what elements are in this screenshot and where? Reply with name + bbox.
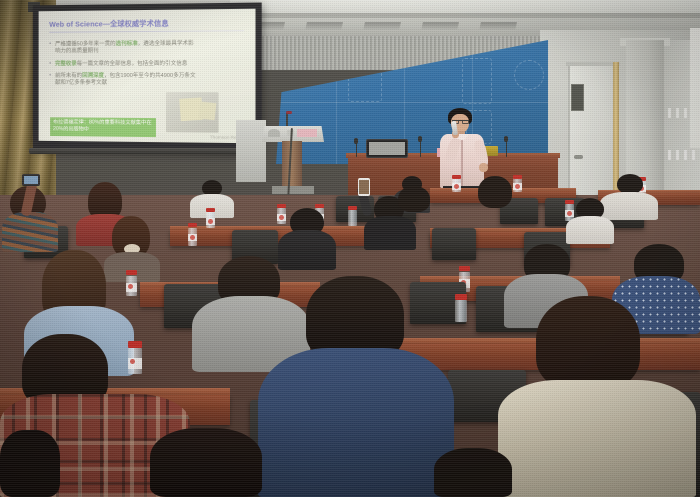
bottle-cap [315,204,324,208]
attendee-torso [364,216,416,250]
slide-highlight-box: 布拉德福定律：80%的重要科技文献集中在20%的出版物中 [50,117,156,137]
bottle-label [126,283,137,292]
table-microphone-head [504,136,508,142]
bullet-highlight: 选刊标准 [116,41,138,47]
glasses-lens-right [462,120,469,124]
ceiling-vent [363,22,401,31]
highlight-box-text: 布拉德福定律：80%的重要科技文献集中在20%的出版物中 [53,119,153,134]
bottle-cap [455,294,467,300]
wall-tile-trim [660,150,700,160]
attendee-head [150,428,262,497]
bottle-cap [452,175,461,179]
podium-microphone-head [286,111,292,114]
bottle-label [128,358,142,369]
bottle-cap [513,175,522,179]
slide-bullet-item: • 完整收录每一篇文章的全部信息，包括全面的引文信息 [49,60,244,68]
water-bottle [348,210,357,226]
bullet-marker: • [49,73,51,87]
bottle-cap [126,270,137,275]
bottle-cap [459,266,470,271]
table-microphone-stem [506,140,507,157]
seat[interactable] [432,228,476,260]
slide-title-rule [49,30,244,33]
sticky-note [198,101,216,120]
bottle-cap [206,208,215,212]
bullet-highlight: 完整收录 [55,61,77,67]
presenter-hand-gesture [479,163,488,172]
water-bottle [455,300,467,322]
attendee-torso [600,192,658,220]
door-handle[interactable] [574,155,583,159]
attendee-head [434,448,512,497]
ceiling-beam [230,0,700,14]
bullet-highlight: 回溯深度 [82,73,104,79]
attendee-torso-striped [2,212,58,252]
ceiling-vent [479,22,517,31]
ceiling-vent [421,22,459,31]
presentation-slide: Web of Science—全球权威学术信息 • 严格遵循50多年来一贯的选刊… [39,9,256,144]
screen-surface: Web of Science—全球权威学术信息 • 严格遵循50多年来一贯的选刊… [39,9,256,144]
shirt-placket [461,138,463,186]
attendee-head [398,186,430,212]
bullet-text: 前所未有的回溯深度，包含1900年至今的共4900多万条文献和7亿多条参考文献 [55,73,196,88]
bottle-label [452,183,461,190]
slide-bullet-item: • 前所未有的回溯深度，包含1900年至今的共4900多万条文献和7亿多条参考文… [49,73,244,88]
bottle-cap [348,206,357,210]
door-header [566,62,620,66]
attendee-hair [536,296,640,390]
bottle-cap [128,341,142,348]
screen-weight-bar [29,148,266,154]
slide-title: Web of Science—全球权威学术信息 [49,18,244,30]
podium-column [282,141,302,189]
projection-screen: Web of Science—全球权威学术信息 • 严格遵循50多年来一贯的选刊… [33,3,262,152]
podium-emblem [268,129,280,137]
attendee-head [478,176,512,208]
window-light-panel [690,28,700,148]
attendee-torso [278,230,336,270]
attendee-head [0,430,60,497]
bottle-label [513,183,522,190]
bullet-text: 严格遵循50多年来一贯的选刊标准，遴选全球最具学术影响力的高质量期刊 [55,41,196,56]
slide-bullet-item: • 严格遵循50多年来一贯的选刊标准，遴选全球最具学术影响力的高质量期刊 [49,40,244,56]
bullet-lead: 严格遵循50多年来一贯的 [55,41,116,47]
phone-screen [24,176,38,184]
podium-microphone-stem [286,112,288,128]
attendee-torso [566,216,614,244]
bottle-cap [277,204,286,208]
bullet-tail: 每一篇文章的全部信息，包括全面的引文信息 [77,60,188,66]
phone-screen [359,180,369,194]
ceiling-vent [305,22,343,31]
podium-name-plate [297,129,317,137]
bottle-label [277,214,286,221]
table-monitor [366,139,408,158]
stage-side-panel [236,120,266,182]
bottle-cap [188,223,197,227]
slide-bullet-list: • 严格遵循50多年来一贯的选刊标准，遴选全球最具学术影响力的高质量期刊 • 完… [49,40,244,87]
bottle-label [206,218,215,225]
bottle-label [565,210,574,217]
attendee-torso-blue [258,348,454,497]
monitor-screen [369,142,405,155]
slide-photo-thumbnail [166,92,219,133]
bullet-marker: • [49,42,51,56]
bullet-lead: 前所未有的 [55,73,82,79]
bottle-cap [565,200,574,204]
table-microphone-head [354,138,358,144]
podium-base [272,186,314,194]
wall-picture [571,84,584,111]
bottle-label [188,234,197,241]
table-microphone-stem [420,140,421,157]
attendee-head [617,174,643,194]
bullet-marker: • [49,61,51,68]
bullet-text: 完整收录每一篇文章的全部信息，包括全面的引文信息 [55,60,187,68]
attendee-torso-cream [498,380,696,497]
lecture-hall-scene: Web of Science—全球权威学术信息 • 严格遵循50多年来一贯的选刊… [0,0,700,497]
table-microphone-head [418,136,422,142]
